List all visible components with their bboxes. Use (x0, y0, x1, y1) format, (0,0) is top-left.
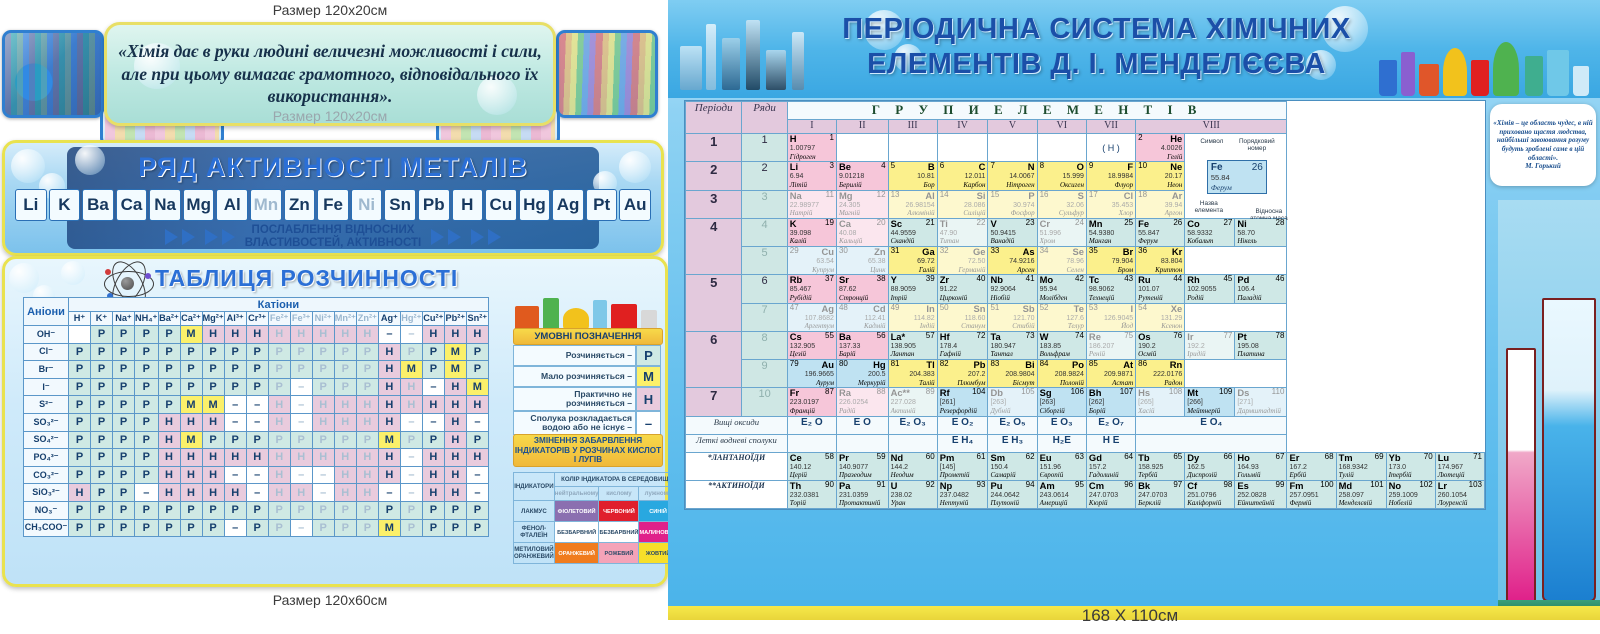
solubility-cell: H (268, 413, 290, 431)
element-mass: 24.305 (839, 202, 860, 209)
element-mass: 260.1054 (1438, 492, 1467, 499)
solubility-cell: H (202, 466, 224, 484)
element-mass: 140.9077 (839, 464, 868, 471)
element-symbol: Es (1237, 481, 1248, 491)
element-name: Мейтнерій (1187, 407, 1220, 415)
element-symbol: Si (977, 191, 986, 201)
anion-label-8: CO₃²⁻ (24, 466, 69, 484)
element-mass: [271] (1237, 399, 1253, 406)
solubility-cell: H (158, 413, 180, 431)
oxide-0: E₂ O (787, 416, 836, 434)
solubility-cell: P (312, 501, 334, 519)
element-number: 86 (1138, 360, 1147, 370)
solubility-cell: H (158, 431, 180, 449)
element-mass: 173.0 (1389, 464, 1407, 471)
element-symbol: In (926, 304, 934, 314)
solubility-row: Br⁻PPPPPPPPPPPPPPHMPMP (24, 361, 489, 379)
element-name: Лантан (891, 350, 915, 358)
solubility-cell: P (135, 449, 159, 467)
element-name: Неодим (891, 471, 914, 479)
key-number: 26 (1252, 162, 1263, 173)
solubility-cell: P (113, 343, 135, 361)
flask-icon (641, 310, 657, 330)
solubility-cell: – (246, 484, 268, 502)
element-name: Технецій (1089, 294, 1114, 302)
activity-metal-zn: Zn (284, 189, 316, 221)
element-Cu: Cu2963.54Купрум (787, 247, 836, 275)
element-number: 94 (1026, 481, 1035, 491)
element-Md: Md101258.097Менделєвій (1336, 480, 1386, 508)
element-name: Цирконій (940, 294, 967, 302)
element-Sb: Sb51121.70Стибій (988, 303, 1037, 331)
element-mass: 252.0828 (1237, 492, 1266, 499)
row-10: 10 (742, 388, 787, 416)
solubility-cell: P (224, 501, 246, 519)
element-Fm: Fm100257.0951Фермій (1287, 480, 1336, 508)
element-number: 98 (1223, 481, 1232, 491)
solubility-cell: P (466, 343, 488, 361)
solubility-cell: P (113, 396, 135, 414)
size-label-left-bottom: Размер 120х60см (180, 592, 480, 608)
element-At: At85209.9871Астат (1086, 360, 1135, 388)
element-Ti: Ti2247.90Титан (937, 218, 988, 246)
element-mass: 1.00797 (790, 145, 815, 152)
element-symbol: Cu (821, 247, 834, 257)
element-name: Аргентум (805, 322, 834, 330)
element-mass: 101.07 (1138, 286, 1159, 293)
solubility-title: ТАБЛИЦЯ РОЗЧИННОСТІ (155, 265, 458, 292)
element-name: Ніобій (990, 294, 1009, 302)
element-mass: 85.467 (790, 286, 811, 293)
element-number: 4 (881, 162, 885, 172)
solubility-cell: H (290, 449, 312, 467)
legend-row-2: Практично не розчиняється –H (513, 387, 661, 411)
row-7: 7 (742, 303, 787, 331)
element-number: 45 (1223, 275, 1232, 285)
element-Ac: Ac**89227.028Актиній (888, 388, 937, 416)
element-symbol: Np (940, 481, 953, 491)
element-name: Лоуренсій (1438, 499, 1468, 507)
solubility-cell: H (378, 449, 400, 467)
solubility-cell: P (246, 361, 268, 379)
element-name: Цинк (870, 266, 885, 274)
element-name: Гелій (1167, 153, 1182, 161)
element-Ra: Ra88226.0254Радій (836, 388, 888, 416)
solubility-cell: H (334, 413, 356, 431)
solubility-cell: M (444, 343, 466, 361)
solubility-cell: P (378, 501, 400, 519)
periodic-table-board: ПЕРІОДИЧНА СИСТЕМА ХІМІЧНИХ ЕЛЕМЕНТІВ Д.… (668, 0, 1600, 620)
element-mass: 258.097 (1339, 492, 1364, 499)
element-name: Плутоній (990, 499, 1019, 507)
element-number: 43 (1124, 275, 1133, 285)
solubility-cell: P (422, 501, 444, 519)
element-symbol: Cd (873, 304, 886, 314)
solubility-cell: H (422, 326, 444, 344)
solubility-cell: P (466, 361, 488, 379)
element-mass: 231.0359 (839, 492, 868, 499)
legend-panel: УМОВНІ ПОЗНАЧЕННЯ Розчиняється –PМало ро… (513, 296, 661, 586)
solubility-cell: P (356, 431, 378, 449)
solubility-cell: H (290, 484, 312, 502)
element-name: Хлор (1119, 209, 1133, 217)
element-mass: 91.22 (940, 286, 958, 293)
element-mass: [266] (1187, 399, 1203, 406)
legend-symbol-1: M (636, 366, 661, 387)
element-number: 38 (877, 275, 886, 285)
solubility-cell: H (378, 361, 400, 379)
element-mass: 106.4 (1237, 286, 1255, 293)
solubility-cell: – (224, 413, 246, 431)
element-mass: 209.9871 (1104, 371, 1133, 378)
solubility-cell: P (91, 378, 113, 396)
element-name: Кальцій (839, 237, 862, 245)
indicator-color-label: ФІОЛЕТОВИЙ (558, 509, 596, 515)
element-name: Талій (919, 379, 935, 387)
solubility-cell: H (312, 449, 334, 467)
element-H: H11.00797Гідроген (787, 134, 836, 162)
group-header-VII: VII (1086, 120, 1135, 134)
element-I: I53126.9045Йод (1086, 303, 1135, 331)
key-legend-cell: СимволПорядковий номерFe2655.84ФерумНазв… (1185, 134, 1287, 219)
element-name: Сіборгій (1040, 407, 1065, 415)
period-5: 5 (686, 275, 742, 332)
period-3: 3 (686, 190, 742, 218)
solubility-cell: P (246, 431, 268, 449)
indicator-color-label: ЧЕРВОНИЙ (603, 509, 635, 515)
anion-label-0: OH⁻ (24, 326, 69, 344)
arrow-right-icon (222, 229, 235, 245)
element-symbol: He (1170, 134, 1182, 144)
element-number: 95 (1075, 481, 1084, 491)
solubility-cell: H (312, 413, 334, 431)
flask-icon (1379, 60, 1397, 96)
element-number: 75 (1124, 332, 1133, 342)
element-mass: 192.2 (1187, 343, 1205, 350)
arrow-group-left-2 (205, 229, 235, 245)
element-number: 55 (825, 332, 834, 342)
element-name: Ітрій (891, 294, 907, 302)
element-symbol: Dy (1187, 453, 1199, 463)
cation-4: Ba²⁺ (158, 312, 180, 326)
solubility-cell: – (466, 466, 488, 484)
element-mass: 65.38 (868, 258, 886, 265)
element-name: Протактиній (839, 499, 880, 507)
solubility-cell: P (135, 431, 159, 449)
element-symbol: N (1028, 162, 1035, 172)
flask-icon (1547, 50, 1569, 96)
element-mass: 167.2 (1289, 464, 1307, 471)
element-mass: 26.98154 (905, 202, 934, 209)
element-number: 110 (1272, 388, 1285, 398)
solubility-cell: P (422, 519, 444, 537)
element-number: 74 (1075, 332, 1084, 342)
period-2: 2 (686, 162, 742, 190)
solubility-cell: P (91, 519, 113, 537)
solubility-cell: H (444, 326, 466, 344)
element-mass: 74.9216 (1009, 258, 1034, 265)
element-mass: 127.6 (1066, 315, 1084, 322)
solubility-cell: H (158, 449, 180, 467)
flask-icon (1471, 60, 1489, 96)
hydrogen-group7-note: ( H ) (1086, 134, 1135, 162)
solubility-cell: H (158, 466, 180, 484)
solubility-cell: P (113, 484, 135, 502)
element-number: 108 (1169, 388, 1182, 398)
element-number: 52 (1040, 304, 1049, 314)
anion-label-6: SO₄²⁻ (24, 431, 69, 449)
hydride-1 (836, 434, 888, 452)
element-name: Самарій (990, 471, 1015, 479)
solubility-cell: H (422, 484, 444, 502)
element-name: Нікель (1237, 237, 1256, 245)
element-empty (1185, 360, 1287, 388)
element-number: 46 (1276, 275, 1285, 285)
element-Tm: Tm69168.9342Тулій (1336, 452, 1386, 480)
solubility-cell: P (202, 343, 224, 361)
element-number: 69 (1375, 453, 1384, 463)
element-mass: 259.1009 (1389, 492, 1418, 499)
element-mass: 114.82 (914, 315, 935, 322)
element-mass: 137.33 (839, 343, 860, 350)
element-number: 58 (825, 453, 834, 463)
beaker-large (1542, 298, 1596, 602)
element-name: Криптон (1155, 266, 1182, 274)
element-mass: 243.0614 (1040, 492, 1069, 499)
element-symbol: Se (1072, 247, 1083, 257)
anion-label-1: Cl⁻ (24, 343, 69, 361)
solubility-row: SO₃²⁻PPPPHHH––H–HHHH––H– (24, 413, 489, 431)
solubility-cell: – (400, 413, 422, 431)
cation-8: Cr³⁺ (246, 312, 268, 326)
solubility-cell: H (422, 449, 444, 467)
solubility-cell: H (334, 466, 356, 484)
element-Cs: Cs55132.905Цезій (787, 331, 836, 359)
solubility-cell: H (444, 466, 466, 484)
solubility-cell: P (246, 519, 268, 537)
element-number: 15 (990, 191, 999, 201)
element-number: 73 (1026, 332, 1035, 342)
element-mass: 12.011 (965, 173, 986, 180)
element-Hf: Hf72178.4Гафній (937, 331, 988, 359)
element-number: 61 (977, 453, 986, 463)
element-name: Барій (839, 350, 856, 358)
element-symbol: Bh (1089, 388, 1102, 398)
element-symbol: Kr (1172, 247, 1182, 257)
element-mass: [262] (1089, 399, 1105, 406)
element-name: Паладій (1237, 294, 1261, 302)
element-number: 13 (891, 191, 900, 201)
flask-icon (611, 304, 637, 330)
indicator-col-header: ІНДИКАТОРИ (514, 473, 555, 501)
element-name: Фосфор (1011, 209, 1035, 217)
element-mass: 162.5 (1187, 464, 1205, 471)
activity-metal-mn: Mn (250, 189, 282, 221)
element-mass: 223.0197 (790, 399, 819, 406)
element-Es: Es99252.0828Ейнштейній (1235, 480, 1287, 508)
element-symbol: Zn (874, 247, 885, 257)
solubility-row: NO₃⁻PPPPPPPPPPPPPPPPPPP (24, 501, 489, 519)
indicator-name: ФЕНОЛ-ФТАЛЕЇН (514, 522, 555, 543)
element-name: Ейнштейній (1237, 499, 1274, 507)
element-mass: 88.9059 (891, 286, 916, 293)
solubility-cell: P (202, 378, 224, 396)
test-tube-icon (706, 24, 716, 90)
element-number: 79 (790, 360, 799, 370)
element-Ni: Ni2858.70Нікель (1235, 218, 1287, 246)
element-symbol: Lu (1438, 453, 1449, 463)
element-name: Неон (1167, 181, 1182, 189)
element-number: 56 (877, 332, 886, 342)
element-number: 85 (1089, 360, 1098, 370)
element-number: 19 (825, 219, 834, 229)
element-mass: 208.9804 (1005, 371, 1034, 378)
element-Mn: Mn2554.9380Манган (1086, 218, 1135, 246)
flask-icon (593, 300, 607, 330)
solubility-cell: H (268, 466, 290, 484)
solubility-cell: P (356, 361, 378, 379)
element-symbol: La* (891, 332, 906, 342)
element-mass: 132.905 (790, 343, 815, 350)
solubility-cell: H (224, 484, 246, 502)
element-number: 24 (1075, 219, 1084, 229)
solubility-cell: P (422, 431, 444, 449)
group-header-V: V (988, 120, 1037, 134)
solubility-cell: P (113, 519, 135, 537)
activity-metal-sn: Sn (384, 189, 416, 221)
anion-label-9: SiO₃²⁻ (24, 484, 69, 502)
solubility-cell: P (180, 378, 202, 396)
solubility-row: SiO₃²⁻HPP–HHHH–HH–HH––HH– (24, 484, 489, 502)
element-number: 102 (1419, 481, 1432, 491)
solubility-cell: – (422, 378, 444, 396)
solubility-cell: P (290, 501, 312, 519)
oxide-6: E₂ O₇ (1086, 416, 1135, 434)
element-Nd: Nd60144.2Неодим (888, 452, 937, 480)
element-mass: 92.9064 (990, 286, 1015, 293)
row-3: 3 (742, 190, 787, 218)
element-Am: Am95243.0614Америцій (1037, 480, 1086, 508)
element-number: 91 (877, 481, 886, 491)
element-number: 6 (940, 162, 944, 172)
element-number: 97 (1173, 481, 1182, 491)
element-mass: 208.9824 (1055, 371, 1084, 378)
solubility-cell: H (246, 326, 268, 344)
element-number: 68 (1325, 453, 1334, 463)
solubility-cell: P (334, 361, 356, 379)
element-number: 82 (940, 360, 949, 370)
solubility-cell: P (135, 343, 159, 361)
element-name: Тантал (990, 350, 1012, 358)
solubility-cell: H (202, 413, 224, 431)
element-mass: 168.9342 (1339, 464, 1368, 471)
solubility-cell: P (91, 501, 113, 519)
solubility-cell: H (378, 466, 400, 484)
element-symbol: Nb (990, 275, 1003, 285)
cation-15: Hg²⁺ (400, 312, 422, 326)
solubility-cell: P (400, 431, 422, 449)
element-name: Тербій (1138, 471, 1157, 479)
element-name: Резерфордій (940, 407, 977, 415)
element-symbol: Mn (1089, 219, 1103, 229)
element-Db: Db105[263]Дубній (988, 388, 1037, 416)
element-name: Диспрозій (1187, 471, 1217, 479)
element-mass: 112.41 (865, 315, 886, 322)
row-1: 1 (742, 134, 787, 162)
element-name: Йод (1121, 322, 1133, 330)
cation-1: K⁺ (91, 312, 113, 326)
legend-symbol-0: P (636, 345, 661, 366)
element-Hg: Hg80200.5Меркурій (836, 360, 888, 388)
cation-2: Na⁺ (113, 312, 135, 326)
element-symbol: S (1078, 191, 1084, 201)
element-Ir: Ir77192.2Іридій (1185, 331, 1235, 359)
element-empty (988, 134, 1037, 162)
hydride-0 (787, 434, 836, 452)
element-Hs: Hs108[265]Хасій (1136, 388, 1185, 416)
activity-footer-line1: ПОСЛАБЛЕННЯ ВІДНОСНИХ (245, 224, 421, 237)
indicator-color-label: БЕЗБАРВНИЙ (599, 530, 638, 536)
element-C: C612.011Карбон (937, 162, 988, 190)
solubility-cell: P (91, 484, 113, 502)
activity-footer-text: ПОСЛАБЛЕННЯ ВІДНОСНИХ ВЛАСТИВОСТЕЙ, АКТИ… (245, 224, 421, 250)
solubility-cell: P (135, 326, 159, 344)
element-number: 67 (1276, 453, 1285, 463)
element-mass: 98.9062 (1089, 286, 1114, 293)
element-symbol: No (1389, 481, 1402, 491)
element-mass: 58.70 (1237, 230, 1255, 237)
poster-collection: Размер 120х20см «Хімія дає в руки людині… (0, 0, 1600, 634)
element-Zr: Zr4091.22Цирконій (937, 275, 988, 303)
key-symbol-label: Символ (1191, 138, 1233, 145)
element-Te: Te52127.6Телур (1037, 303, 1086, 331)
periodic-quote-author: М. Горький (1525, 162, 1561, 170)
element-symbol: Br (1123, 247, 1133, 257)
element-name: Нептуній (940, 499, 969, 507)
indicator-env: нейтральному (554, 487, 599, 501)
element-Bk: Bk97247.0703Берклій (1136, 480, 1185, 508)
solubility-cell: H (268, 449, 290, 467)
element-mass: 118.60 (965, 315, 986, 322)
lanthanide-label: *ЛАНТАНОЇДИ (686, 452, 788, 480)
solubility-cell: P (135, 378, 159, 396)
element-Rb: Rb3785.467Рубідій (787, 275, 836, 303)
element-name: Купрум (812, 266, 834, 274)
element-Sn: Sn50118.60Станум (937, 303, 988, 331)
solubility-cell: P (312, 378, 334, 396)
element-number: 33 (990, 247, 999, 257)
element-number: 65 (1173, 453, 1182, 463)
element-symbol: K (790, 219, 797, 229)
solubility-cell: P (422, 361, 444, 379)
solubility-cell: H (334, 484, 356, 502)
element-symbol: Pu (990, 481, 1002, 491)
element-number: 83 (990, 360, 999, 370)
element-mass: 44.9559 (891, 230, 916, 237)
element-Li: Li36.94Літій (787, 162, 836, 190)
element-mass: 72.50 (968, 258, 986, 265)
solubility-cell: – (312, 484, 334, 502)
element-symbol: As (1023, 247, 1035, 257)
element-symbol: Au (821, 360, 834, 370)
cation-7: Al³⁺ (224, 312, 246, 326)
group-header-VI: VI (1037, 120, 1086, 134)
key-mass: 55.84 (1211, 173, 1230, 182)
arrow-group-right (431, 229, 461, 245)
element-mass: 50.9415 (990, 230, 1015, 237)
solubility-cell: P (69, 396, 91, 414)
indicator-color-label: ЖОВТИЙ (646, 551, 671, 557)
